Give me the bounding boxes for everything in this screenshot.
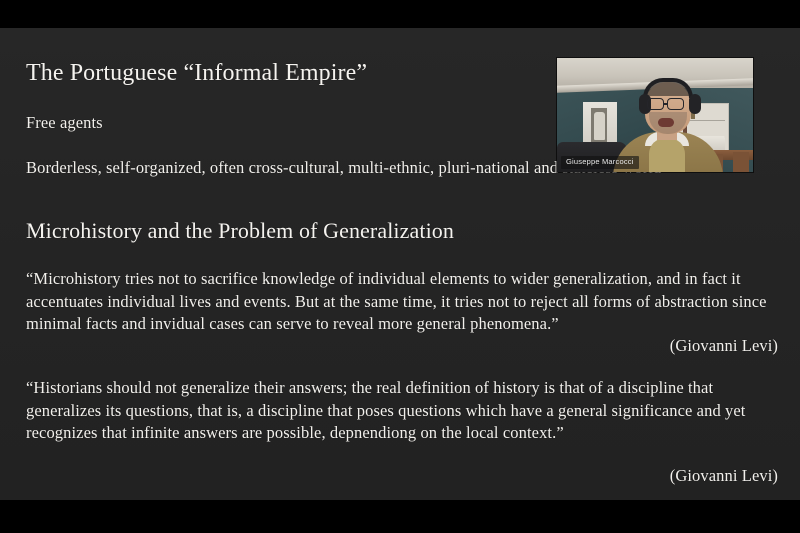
quote-one-text: “Microhistory tries not to sacrifice kno… [26,268,774,336]
quote-one-attribution: (Giovanni Levi) [26,335,778,357]
eyeglasses-right-lens [667,98,684,110]
letterbox-band-bottom [0,500,800,533]
screen-share-view: The Portuguese “Informal Empire” Free ag… [0,0,800,533]
room-hanging-garment [594,112,605,140]
headphone-earcup-right [689,94,701,114]
eyeglasses-bridge [664,103,667,105]
slide-section-title: Microhistory and the Problem of Generali… [26,217,454,245]
presentation-slide: The Portuguese “Informal Empire” Free ag… [0,28,800,500]
room-chair [733,152,749,172]
letterbox-band-top [0,0,800,28]
quote-two-text: “Historians should not generalize their … [26,377,774,445]
webcam-thumbnail[interactable]: Giuseppe Marcocci [557,58,753,172]
eyeglasses-left-lens [647,98,664,110]
participant-mouth [658,118,674,127]
participant-name-label: Giuseppe Marcocci [561,156,639,169]
webcam-video-frame [557,58,753,172]
quote-two-attribution: (Giovanni Levi) [26,465,778,487]
slide-subhead: Free agents [26,112,103,133]
slide-title: The Portuguese “Informal Empire” [26,58,367,88]
participant-shirt [649,138,685,172]
